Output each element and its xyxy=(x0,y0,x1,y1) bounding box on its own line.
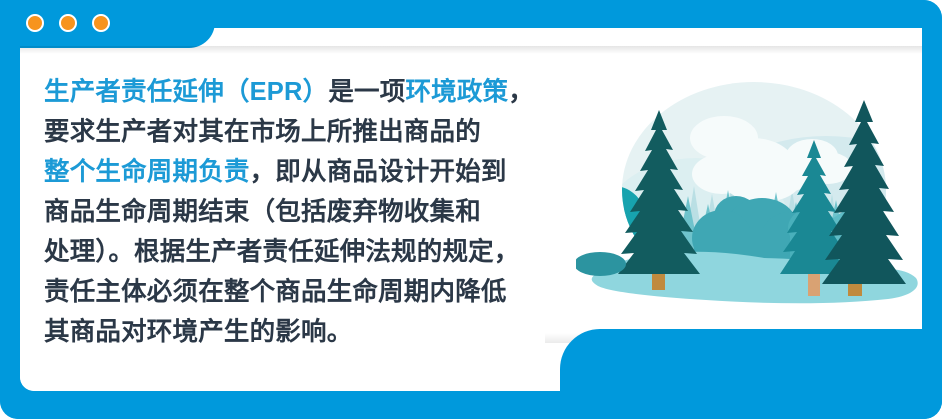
body-text: ，即从商品设计开始到 xyxy=(250,158,507,186)
highlighted-text: 整个生命周期负责 xyxy=(44,158,250,186)
window-dot-close-icon[interactable] xyxy=(26,14,44,32)
window-dot-minimize-icon[interactable] xyxy=(59,14,77,32)
forest-illustration-svg xyxy=(576,78,928,318)
body-paragraph: 生产者责任延伸（EPR）是一项环境政策，要求生产者对其在市场上所推出商品的整个生… xyxy=(44,72,574,352)
window-controls xyxy=(26,14,110,32)
body-text: 责任主体必须在整个商品生命周期内降低 xyxy=(44,278,507,306)
highlighted-text: 环境政策 xyxy=(405,78,508,106)
body-text: 其商品对环境产生的影响。 xyxy=(44,318,352,346)
window-dot-maximize-icon[interactable] xyxy=(92,14,110,32)
paragraph-line: 责任主体必须在整个商品生命周期内降低 xyxy=(44,272,574,312)
paragraph-line: 生产者责任延伸（EPR）是一项环境政策， xyxy=(44,72,574,112)
forest-illustration xyxy=(576,78,928,318)
info-card: 生产者责任延伸（EPR）是一项环境政策，要求生产者对其在市场上所推出商品的整个生… xyxy=(0,0,942,419)
paragraph-line: 商品生命周期结束（包括废弃物收集和 xyxy=(44,192,574,232)
body-text: ， xyxy=(508,78,534,106)
paragraph-line: 其商品对环境产生的影响。 xyxy=(44,312,574,352)
highlighted-text: 生产者责任延伸（EPR） xyxy=(44,78,328,106)
body-text: 商品生命周期结束（包括废弃物收集和 xyxy=(44,198,481,226)
tree-trunk-mid xyxy=(808,274,820,296)
body-text: 要求生产者对其在市场上所推出商品的 xyxy=(44,118,481,146)
body-text: 是一项 xyxy=(328,78,405,106)
bottom-accent-band xyxy=(560,329,942,419)
paragraph-line: 整个生命周期负责，即从商品设计开始到 xyxy=(44,152,574,192)
paragraph-line: 要求生产者对其在市场上所推出商品的 xyxy=(44,112,574,152)
body-text: 处理）。根据生产者责任延伸法规的规定， xyxy=(44,238,520,266)
paragraph-line: 处理）。根据生产者责任延伸法规的规定， xyxy=(44,232,574,272)
shrub-bottom-left xyxy=(576,252,626,276)
